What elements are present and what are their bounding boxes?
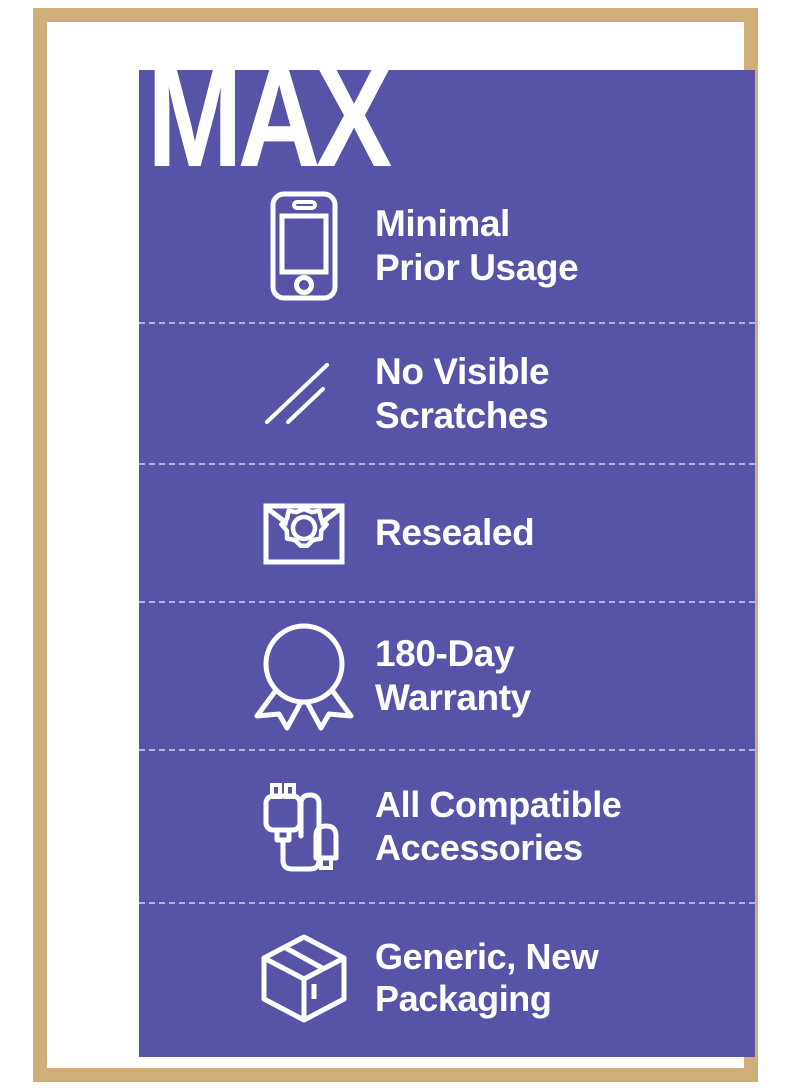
infographic-card: MAX Minimal Prior Usage (0, 0, 800, 1091)
feature-row: Resealed (139, 463, 755, 601)
gold-border-frame: MAX Minimal Prior Usage (33, 8, 758, 1082)
feature-label: 180-Day Warranty (375, 632, 531, 719)
award-ribbon-icon (239, 616, 369, 736)
feature-label: No Visible Scratches (375, 350, 549, 437)
page-title: MAX (147, 70, 387, 170)
sealed-envelope-icon (239, 473, 369, 593)
feature-row: Minimal Prior Usage (139, 170, 755, 322)
smartphone-icon (239, 186, 369, 306)
feature-row: No Visible Scratches (139, 322, 755, 463)
package-box-icon (239, 918, 369, 1038)
feature-row: All Compatible Accessories (139, 749, 755, 902)
feature-list: Minimal Prior Usage No Visible Scratches (139, 170, 755, 1052)
feature-label: Minimal Prior Usage (375, 202, 578, 289)
scratches-icon (239, 334, 369, 454)
feature-row: Generic, New Packaging (139, 902, 755, 1052)
feature-row: 180-Day Warranty (139, 601, 755, 749)
feature-label: Resealed (375, 511, 534, 555)
feature-label: All Compatible Accessories (375, 784, 621, 869)
feature-label: Generic, New Packaging (375, 936, 598, 1021)
usb-cable-icon (239, 767, 369, 887)
headline-container: MAX (139, 70, 755, 170)
purple-content-panel: MAX Minimal Prior Usage (139, 70, 755, 1057)
